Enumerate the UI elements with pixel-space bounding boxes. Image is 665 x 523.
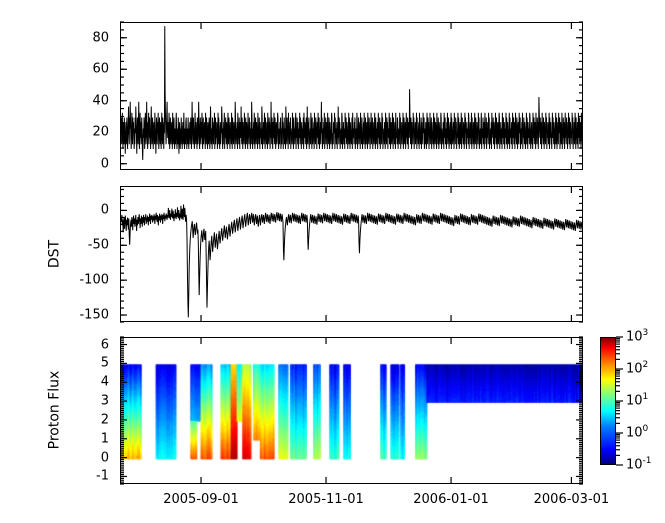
x-tick-label: 2005-11-01	[288, 492, 364, 507]
colorbar-tick-label: 10-1	[626, 458, 652, 473]
y-tick-label: 80	[0, 30, 109, 45]
y-tick-label: 5	[0, 356, 109, 371]
kp-panel	[120, 22, 583, 170]
y-tick-label: 0	[0, 450, 109, 465]
y-tick-label: -150	[0, 308, 109, 323]
y-tick-label: 6	[0, 337, 109, 352]
x-tick-label: 2006-01-01	[413, 492, 489, 507]
y-tick-label: -1	[0, 469, 109, 484]
y-tick-label: 2	[0, 412, 109, 427]
colorbar-tick-label: 101	[626, 394, 648, 409]
x-tick-label: 2006-03-01	[534, 492, 610, 507]
colorbar-tick-label: 102	[626, 362, 648, 377]
dst-series-plot	[121, 187, 583, 322]
y-tick-label: 0	[0, 156, 109, 171]
y-tick-label: 4	[0, 375, 109, 390]
y-tick-label: 0	[0, 203, 109, 218]
y-tick-label: 3	[0, 394, 109, 409]
y-tick-label: -100	[0, 273, 109, 288]
y-tick-label: 60	[0, 62, 109, 77]
x-tick-label: 2005-09-01	[163, 492, 239, 507]
colorbar-tick-label: 100	[626, 426, 648, 441]
y-tick-label: -50	[0, 238, 109, 253]
colorbar-tick-label: 103	[626, 330, 648, 345]
colorbar	[600, 337, 616, 465]
y-tick-label: 1	[0, 431, 109, 446]
y-tick-label: 20	[0, 125, 109, 140]
kp-series-plot	[121, 23, 583, 170]
proton-flux-panel	[120, 337, 583, 484]
proton-flux-spectrogram	[121, 338, 583, 484]
figure-canvas: Kp (e.g. 3+ = 33, 6- = 57, 4 = 40, etc.)…	[0, 0, 665, 523]
y-tick-label: 40	[0, 93, 109, 108]
dst-panel	[120, 186, 583, 322]
